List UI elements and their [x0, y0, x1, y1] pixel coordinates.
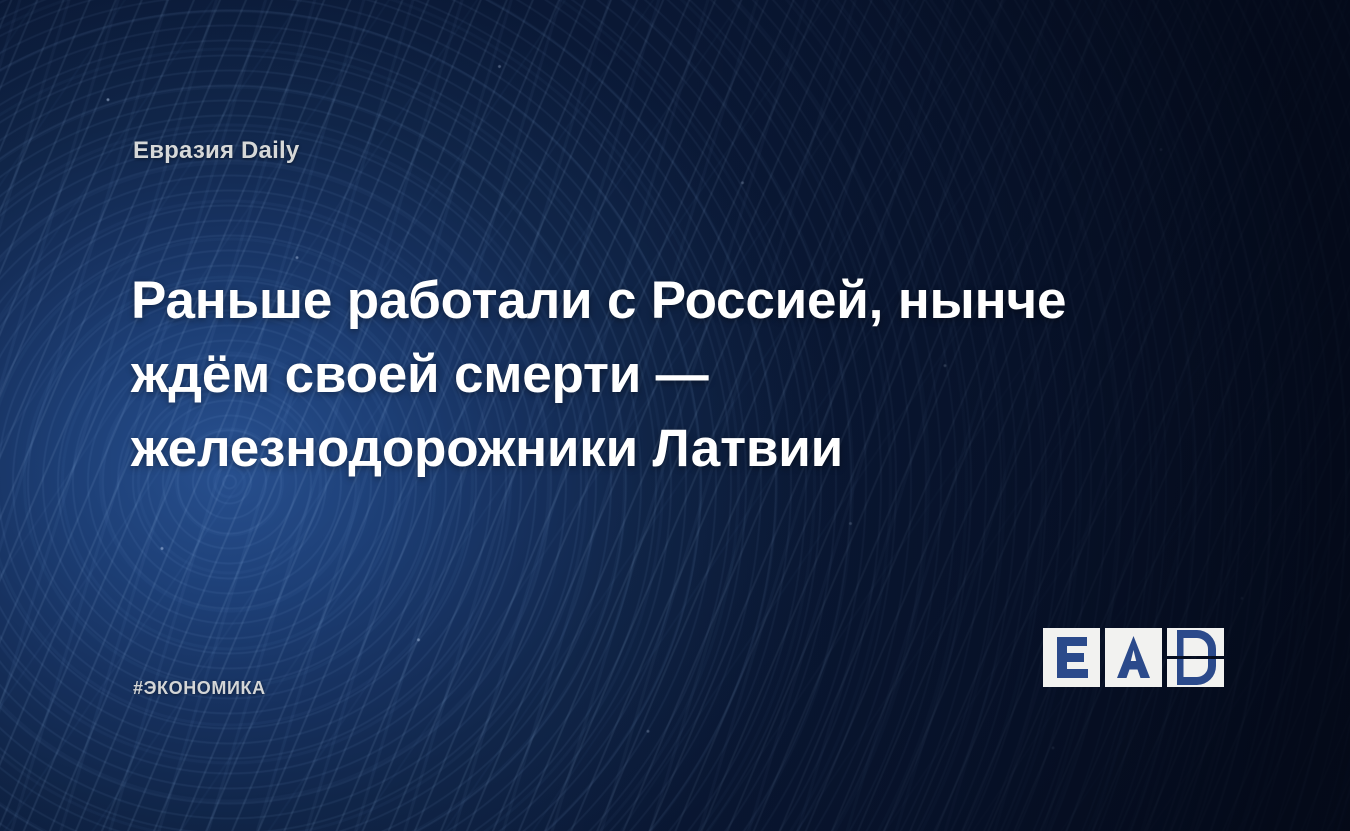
social-share-card: Евразия Daily Раньше работали с Россией,… [0, 0, 1350, 831]
article-headline: Раньше работали с Россией, нынче ждём св… [131, 264, 1131, 486]
site-name: Евразия Daily [133, 137, 299, 165]
logo-tile-a [1105, 628, 1162, 687]
category-tag: #ЭКОНОМИКА [133, 678, 266, 699]
logo-tile-d [1167, 628, 1224, 687]
logo-tile-d-bottom [1167, 659, 1224, 687]
logo-tile-e [1043, 628, 1100, 687]
logo-tile-d-top [1167, 628, 1224, 656]
eadaily-logo [1043, 628, 1224, 687]
card-content: Евразия Daily Раньше работали с Россией,… [0, 0, 1350, 831]
